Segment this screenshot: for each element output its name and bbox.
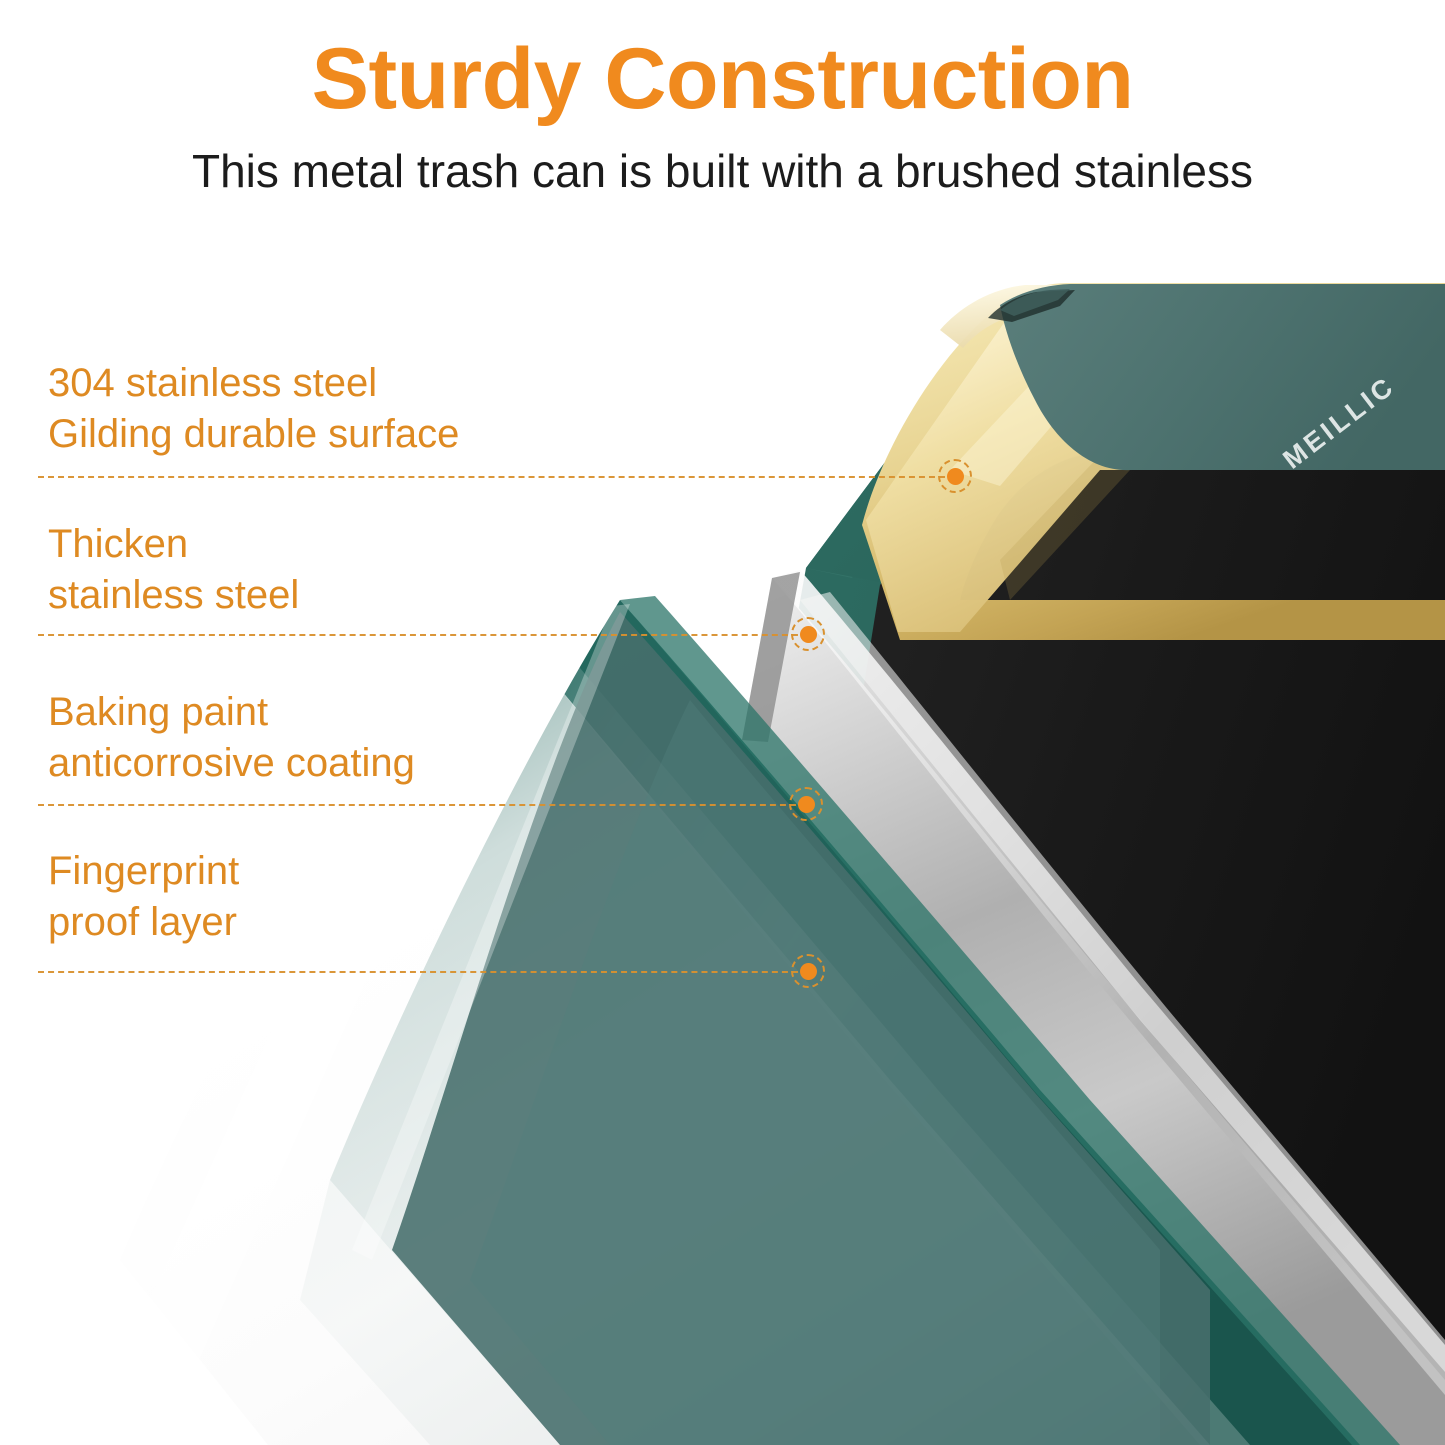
leader-line-fingerprint-proof (38, 971, 808, 973)
leader-line-baking-paint (38, 804, 806, 806)
page-subtitle: This metal trash can is built with a bru… (0, 148, 1445, 194)
marker-dot-fingerprint-proof (791, 954, 825, 988)
page-title: Sturdy Construction (0, 36, 1445, 122)
leader-line-304-stainless-steel (38, 476, 955, 478)
infographic-canvas: MEILLIC (0, 0, 1445, 1445)
marker-dot-thicken-stainless-steel (791, 617, 825, 651)
leader-line-thicken-stainless-steel (38, 634, 808, 636)
product-illustration: MEILLIC (0, 0, 1445, 1445)
marker-dot-304-stainless-steel (938, 459, 972, 493)
marker-dot-baking-paint (789, 787, 823, 821)
